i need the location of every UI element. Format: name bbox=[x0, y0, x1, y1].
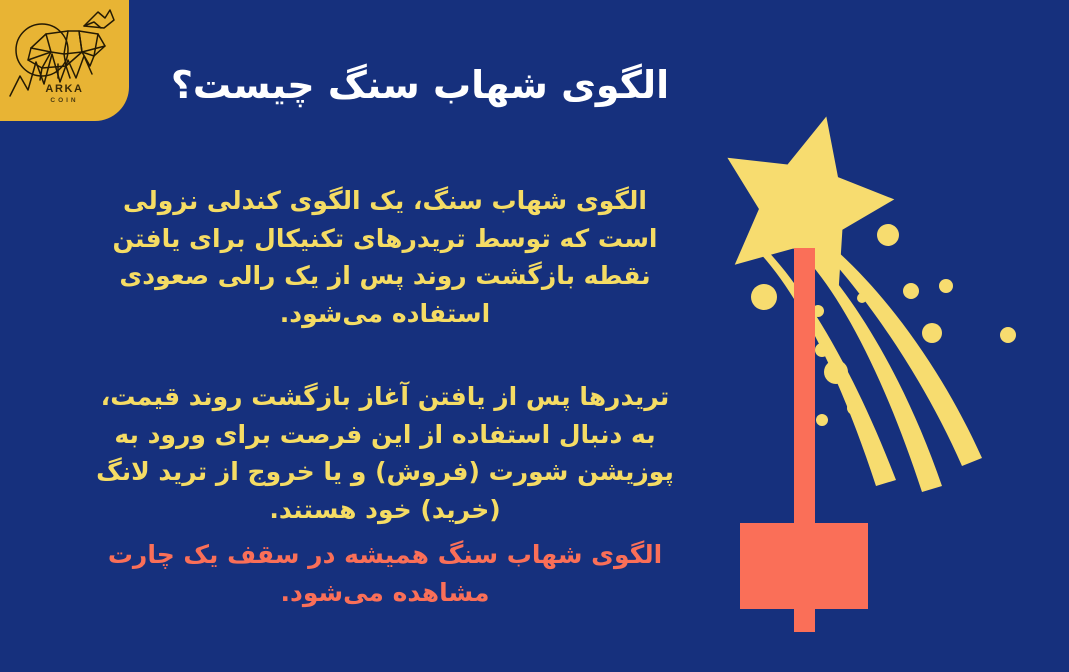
candle-lower-wick bbox=[794, 604, 815, 632]
paragraph-highlight-note: الگوی شهاب سنگ همیشه در سقف یک چارت مشاه… bbox=[90, 536, 680, 611]
brand-subwordmark: COIN bbox=[0, 97, 129, 104]
brand-logo-badge[interactable]: ARKA COIN bbox=[0, 0, 129, 121]
paragraph-trader-usage: تریدرها پس از یافتن آغاز بازگشت روند قیم… bbox=[90, 378, 680, 528]
page-title: الگوی شهاب سنگ چیست؟ bbox=[160, 62, 680, 110]
paragraph-definition: الگوی شهاب سنگ، یک الگوی کندلی نزولی است… bbox=[90, 182, 680, 332]
body-copy: الگوی شهاب سنگ، یک الگوی کندلی نزولی است… bbox=[90, 182, 680, 611]
candle-upper-wick bbox=[794, 248, 815, 528]
star-trail-streaks bbox=[756, 235, 982, 492]
poster-canvas: ARKA COIN الگوی شهاب سنگ چیست؟ الگوی شها… bbox=[0, 0, 1069, 672]
shooting-star-candlestick-illustration bbox=[706, 108, 1069, 672]
brand-wordmark: ARKA bbox=[0, 84, 129, 96]
candle-body bbox=[740, 523, 868, 609]
